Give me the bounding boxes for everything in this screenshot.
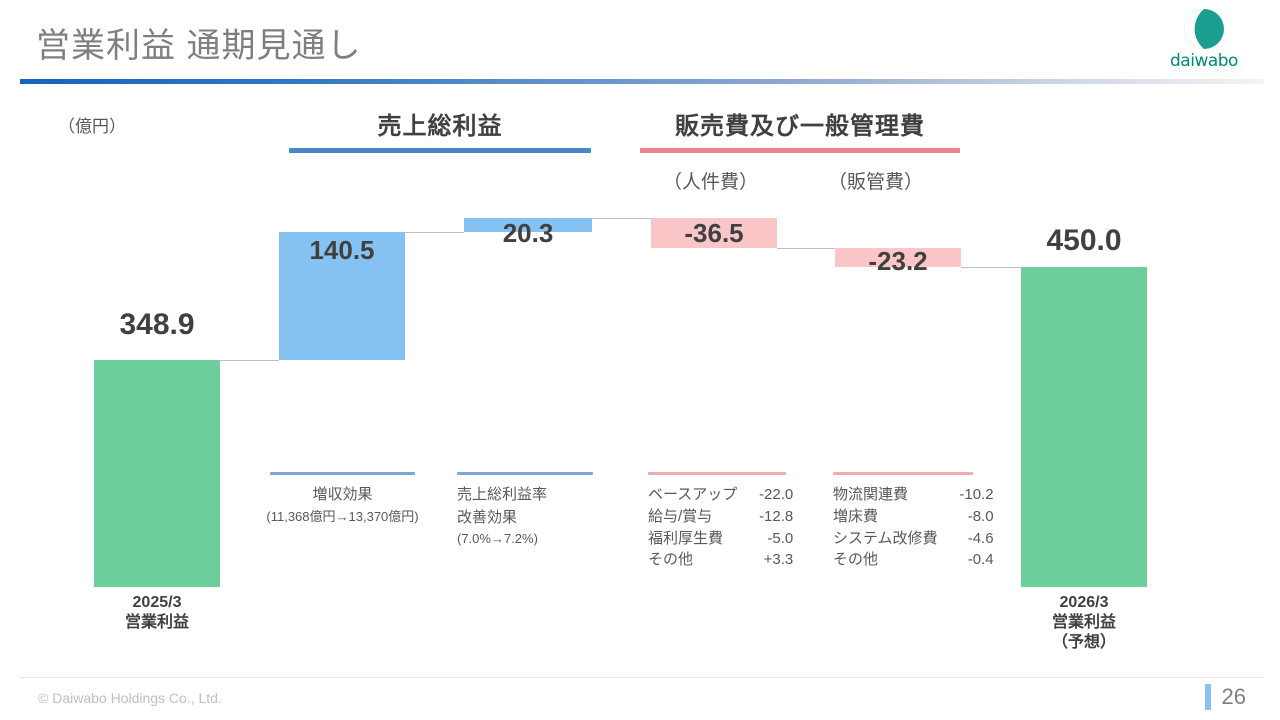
breakdown-value: -12.8 — [747, 506, 793, 528]
connector-start-to-revenue — [220, 360, 279, 361]
connector-margin-to-personnel — [592, 218, 651, 219]
unit-label: （億円） — [58, 112, 126, 137]
breakdown-value: -4.6 — [948, 528, 994, 550]
category-label-end-line3: （予想） — [1011, 633, 1157, 653]
annotation-margin-effect-rule — [457, 472, 593, 475]
category-label-start-line1: 2025/3 — [84, 593, 230, 613]
table-row: その他 +3.3 — [648, 549, 793, 571]
connector-revenue-to-margin — [405, 232, 464, 233]
value-label-margin-effect: 20.3 — [464, 218, 592, 249]
annotation-personnel-breakdown: ベースアップ -22.0 給与/賞与 -12.8 福利厚生費 -5.0 その他 … — [648, 472, 786, 571]
group-header-gross-profit: 売上総利益 — [289, 106, 591, 153]
footer-divider — [20, 677, 1264, 678]
table-row: ベースアップ -22.0 — [648, 484, 793, 506]
breakdown-value: -8.0 — [948, 506, 994, 528]
page-title: 営業利益 通期見通し — [36, 18, 361, 67]
annotation-revenue-effect-detail: (11,368億円→13,370億円) — [250, 507, 435, 527]
annotation-margin-effect-detail: (7.0%→7.2%) — [457, 529, 593, 549]
annotation-personnel-breakdown-rule — [648, 472, 786, 475]
annotation-margin-effect: 売上総利益率 改善効果 (7.0%→7.2%) — [457, 472, 593, 549]
personnel-breakdown-table: ベースアップ -22.0 給与/賞与 -12.8 福利厚生費 -5.0 その他 … — [648, 484, 793, 571]
group-header-gross-profit-rule — [289, 148, 591, 153]
logo-wordmark: daiwabo — [1158, 51, 1250, 71]
value-label-end-total: 450.0 — [1021, 224, 1147, 258]
breakdown-value: -22.0 — [747, 484, 793, 506]
breakdown-name: ベースアップ — [648, 484, 747, 506]
connector-sga-to-end — [961, 267, 1021, 268]
annotation-expenses-breakdown: 物流関連費 -10.2 増床費 -8.0 システム改修費 -4.6 その他 -0… — [833, 472, 973, 571]
value-label-start-total: 348.9 — [94, 308, 220, 342]
breakdown-name: システム改修費 — [833, 528, 948, 550]
bar-end-total — [1021, 267, 1147, 587]
table-row: 福利厚生費 -5.0 — [648, 528, 793, 550]
breakdown-value: +3.3 — [747, 549, 793, 571]
connector-personnel-to-sga — [777, 248, 835, 249]
annotation-margin-effect-line2: 改善効果 — [457, 507, 593, 530]
table-row: システム改修費 -4.6 — [833, 528, 994, 550]
company-logo: daiwabo — [1158, 8, 1250, 78]
annotation-revenue-effect-title: 増収効果 — [270, 484, 415, 507]
category-label-end-line1: 2026/3 — [1011, 593, 1157, 613]
annotation-revenue-effect: 増収効果 (11,368億円→13,370億円) — [270, 472, 415, 526]
annotation-expenses-breakdown-rule — [833, 472, 973, 475]
page-number-group: 26 — [1205, 684, 1246, 710]
breakdown-name: 増床費 — [833, 506, 948, 528]
category-label-start-line2: 営業利益 — [84, 613, 230, 633]
title-divider — [20, 79, 1264, 84]
group-header-sga-rule — [640, 148, 960, 153]
annotation-revenue-effect-rule — [270, 472, 415, 475]
breakdown-name: 給与/賞与 — [648, 506, 747, 528]
group-header-sga: 販売費及び一般管理費 — [640, 106, 960, 153]
breakdown-name: その他 — [833, 549, 948, 571]
sub-header-expenses: （販管費） — [828, 167, 923, 194]
sub-header-personnel: （人件費） — [663, 167, 758, 194]
category-label-end-line2: 営業利益 — [1011, 613, 1157, 633]
group-header-sga-label: 販売費及び一般管理費 — [640, 106, 960, 141]
group-header-gross-profit-label: 売上総利益 — [289, 106, 591, 141]
breakdown-value: -5.0 — [747, 528, 793, 550]
table-row: その他 -0.4 — [833, 549, 994, 571]
category-label-start: 2025/3 営業利益 — [84, 593, 230, 633]
expenses-breakdown-table: 物流関連費 -10.2 増床費 -8.0 システム改修費 -4.6 その他 -0… — [833, 484, 994, 571]
bar-start-total — [94, 360, 220, 587]
annotation-margin-effect-line1: 売上総利益率 — [457, 484, 593, 507]
breakdown-name: 福利厚生費 — [648, 528, 747, 550]
copyright-text: © Daiwabo Holdings Co., Ltd. — [38, 690, 222, 706]
breakdown-name: 物流関連費 — [833, 484, 948, 506]
daiwabo-circle-mark-icon — [1183, 8, 1225, 50]
table-row: 給与/賞与 -12.8 — [648, 506, 793, 528]
value-label-personnel-cost: -36.5 — [651, 218, 777, 249]
breakdown-value: -0.4 — [948, 549, 994, 571]
breakdown-value: -10.2 — [948, 484, 994, 506]
page-number: 26 — [1222, 684, 1246, 710]
breakdown-name: その他 — [648, 549, 747, 571]
value-label-revenue-effect: 140.5 — [279, 235, 405, 266]
page-number-tick-icon — [1205, 684, 1211, 710]
table-row: 物流関連費 -10.2 — [833, 484, 994, 506]
value-label-sga-expense: -23.2 — [835, 246, 961, 277]
table-row: 増床費 -8.0 — [833, 506, 994, 528]
waterfall-chart: （億円） 売上総利益 販売費及び一般管理費 （人件費） （販管費） 348.9 … — [0, 90, 1280, 670]
category-label-end: 2026/3 営業利益 （予想） — [1011, 593, 1157, 653]
